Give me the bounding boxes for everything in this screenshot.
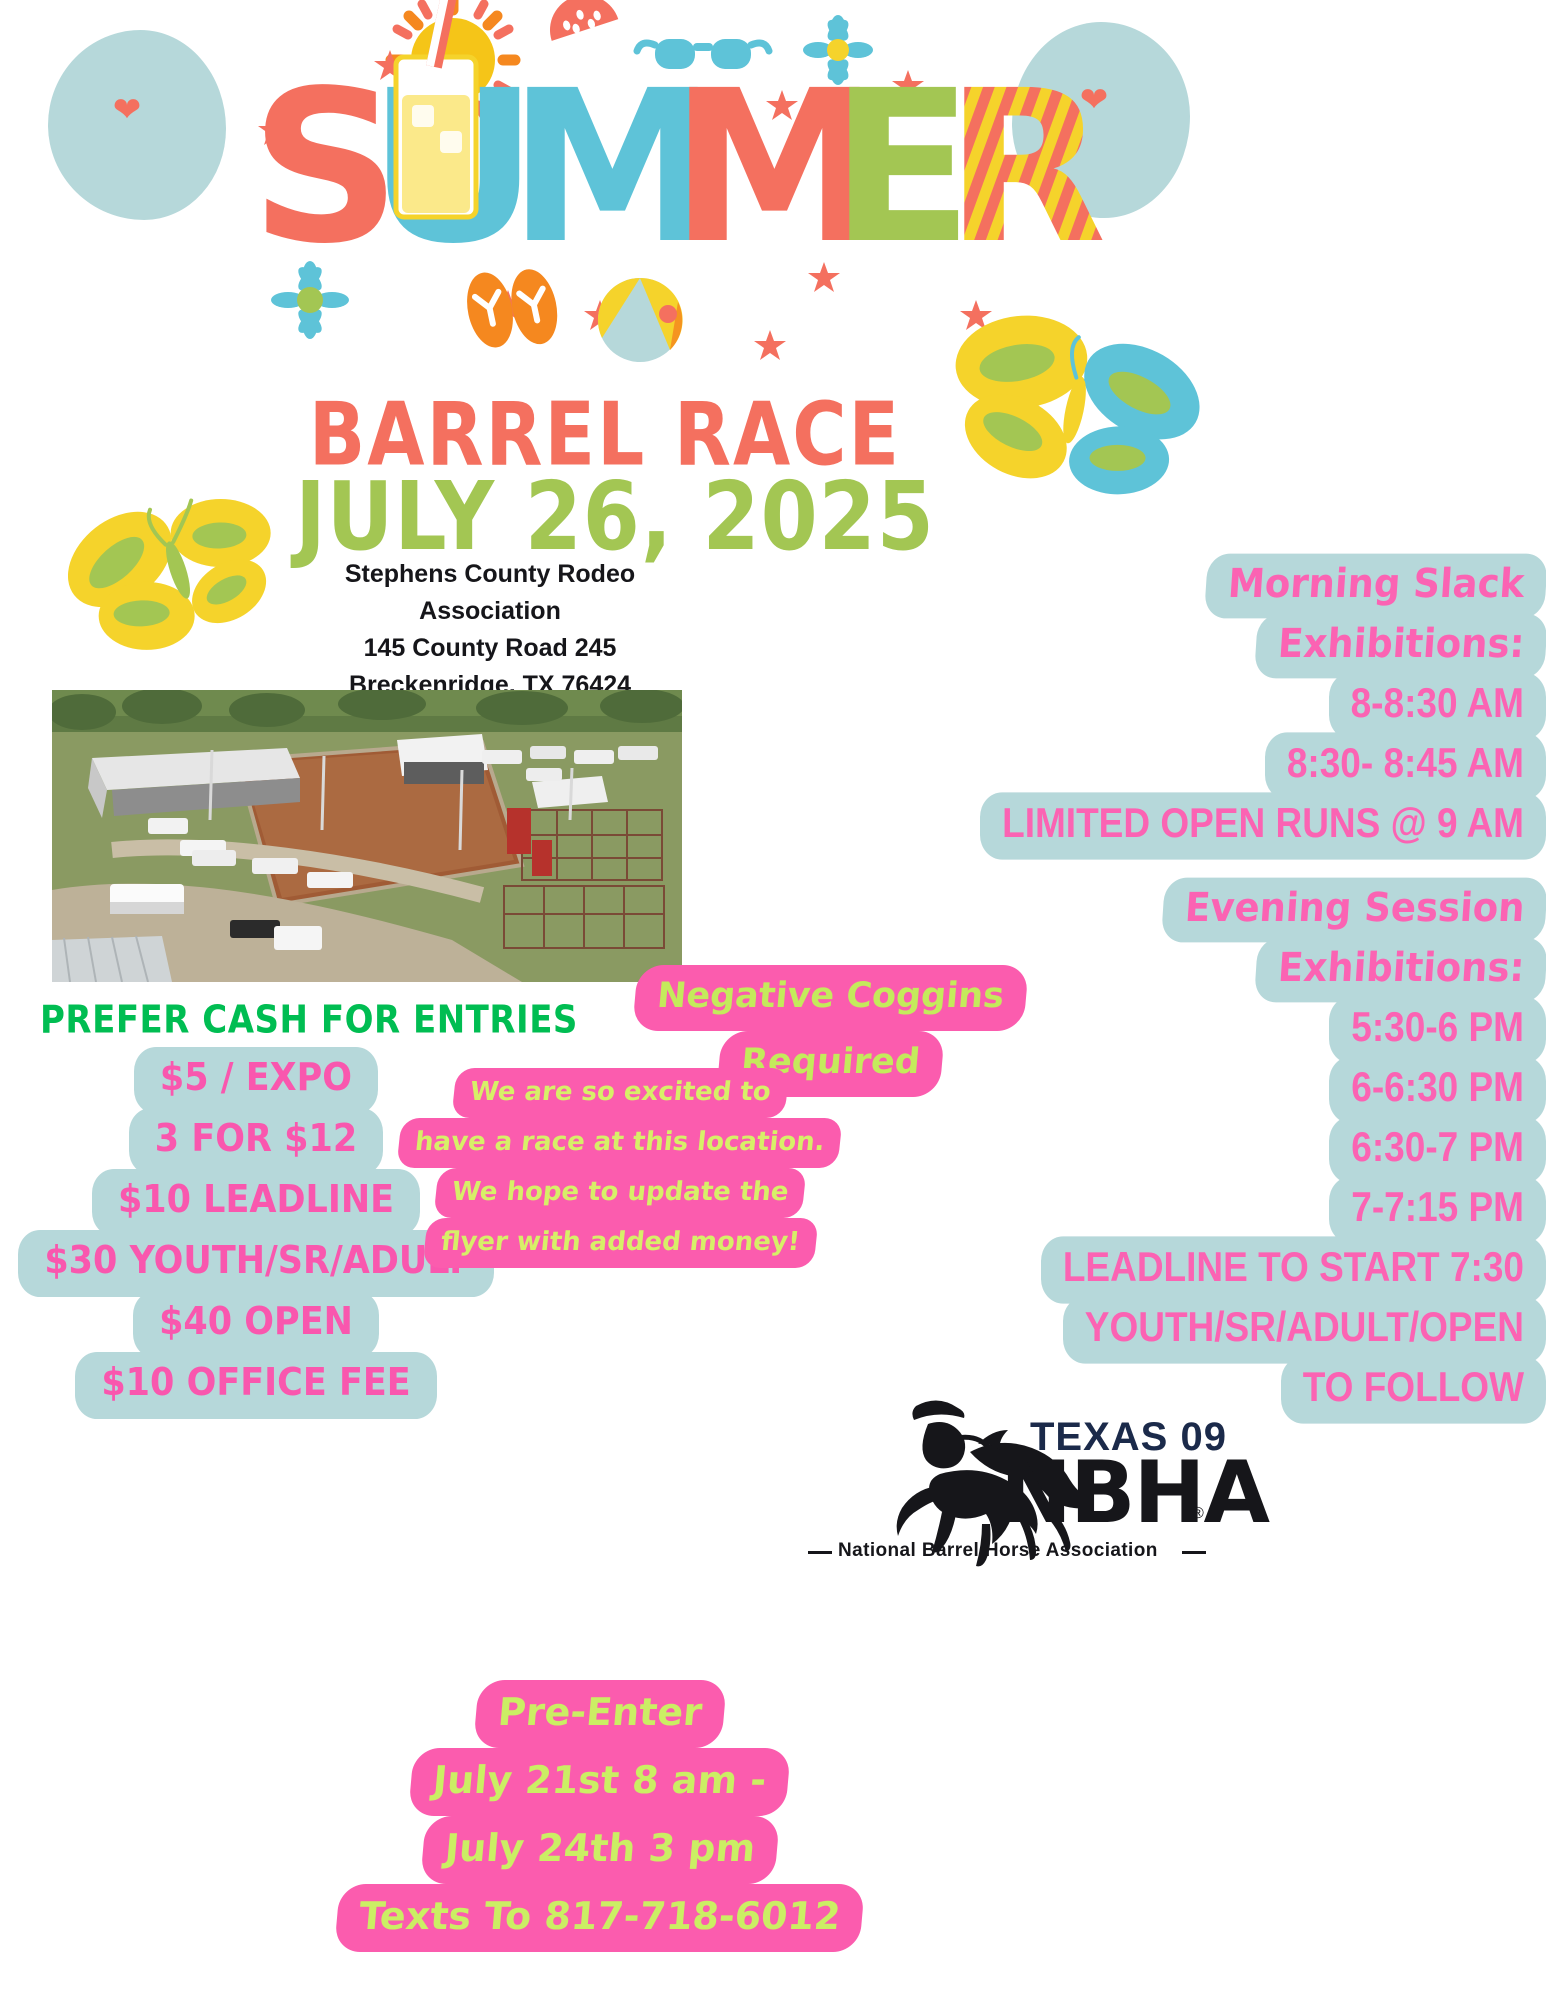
evening-time: 6:30-7 PM <box>1329 1116 1546 1183</box>
pre-enter-panel: Pre-Enter July 21st 8 am - July 24th 3 p… <box>400 1680 800 1952</box>
note-line-4: flyer with added money! <box>422 1218 818 1268</box>
coggins-line-1: Negative Coggins <box>632 965 1029 1031</box>
morning-time: 8-8:30 AM <box>1329 672 1546 739</box>
note-line-1: We are so excited to <box>451 1068 789 1118</box>
morning-title-line-1: Morning Slack <box>1204 554 1546 619</box>
venue-line-1: Stephens County Rodeo <box>230 556 750 593</box>
note-line-3: We hope to update the <box>433 1168 807 1218</box>
evening-time: 5:30-6 PM <box>1329 996 1546 1063</box>
pre-enter-open: July 21st 8 am - <box>409 1748 792 1816</box>
arena-photo <box>52 690 682 982</box>
prefer-cash-heading: PREFER CASH FOR ENTRIES <box>40 998 578 1043</box>
fee-item: $10 OFFICE FEE <box>75 1352 436 1419</box>
morning-time: 8:30- 8:45 AM <box>1265 732 1546 799</box>
logo-rule-left <box>808 1551 832 1554</box>
entry-fees-panel: $5 / EXPO 3 FOR $12 $10 LEADLINE $30 YOU… <box>36 1050 476 1470</box>
organizer-note: We are so excited to have a race at this… <box>455 1068 785 1268</box>
venue-line-2: Association <box>230 593 750 630</box>
nbha-acronym: NBHA <box>1000 1443 1268 1543</box>
leadline-start: LEADLINE TO START 7:30 <box>1041 1236 1546 1303</box>
evening-time: 6-6:30 PM <box>1329 1056 1546 1123</box>
entry-fees-list: $5 / EXPO 3 FOR $12 $10 LEADLINE $30 YOU… <box>36 1050 476 1416</box>
note-line-2: have a race at this location. <box>397 1118 844 1168</box>
butterfly-icon <box>930 300 1220 515</box>
fee-item: $30 YOUTH/SR/ADULT <box>18 1230 493 1297</box>
pre-enter-title: Pre-Enter <box>473 1680 727 1748</box>
limited-open-runs: LIMITED OPEN RUNS @ 9 AM <box>980 792 1546 859</box>
logo-rule-right <box>1182 1551 1206 1554</box>
venue-address: Stephens County Rodeo Association 145 Co… <box>230 556 750 704</box>
svg-text:R: R <box>945 45 1107 290</box>
pre-enter-close: July 24th 3 pm <box>420 1816 780 1884</box>
morning-schedule-panel: Morning Slack Exhibitions: 8-8:30 AM 8:3… <box>786 556 1546 856</box>
venue-line-3: 145 County Road 245 <box>230 630 750 667</box>
morning-title-line-2: Exhibitions: <box>1254 614 1546 679</box>
division-order: YOUTH/SR/ADULT/OPEN <box>1063 1296 1546 1363</box>
registered-trademark-icon: ® <box>1192 1505 1204 1523</box>
evening-title-line-2: Exhibitions: <box>1254 938 1546 1003</box>
fee-item: $5 / EXPO <box>134 1047 378 1114</box>
pre-enter-phone[interactable]: Texts To 817-718-6012 <box>334 1884 865 1952</box>
evening-time: 7-7:15 PM <box>1329 1176 1546 1243</box>
fee-item: 3 FOR $12 <box>129 1108 383 1175</box>
nbha-full-name: National Barrel Horse Association <box>838 1540 1158 1562</box>
evening-schedule-panel: Evening Session Exhibitions: 5:30-6 PM 6… <box>726 880 1546 1420</box>
to-follow: TO FOLLOW <box>1281 1356 1546 1423</box>
heart-icon: ❤ <box>110 95 144 126</box>
fee-item: $10 LEADLINE <box>92 1169 420 1236</box>
fee-item: $40 OPEN <box>133 1291 379 1358</box>
evening-title-line-1: Evening Session <box>1160 878 1546 943</box>
